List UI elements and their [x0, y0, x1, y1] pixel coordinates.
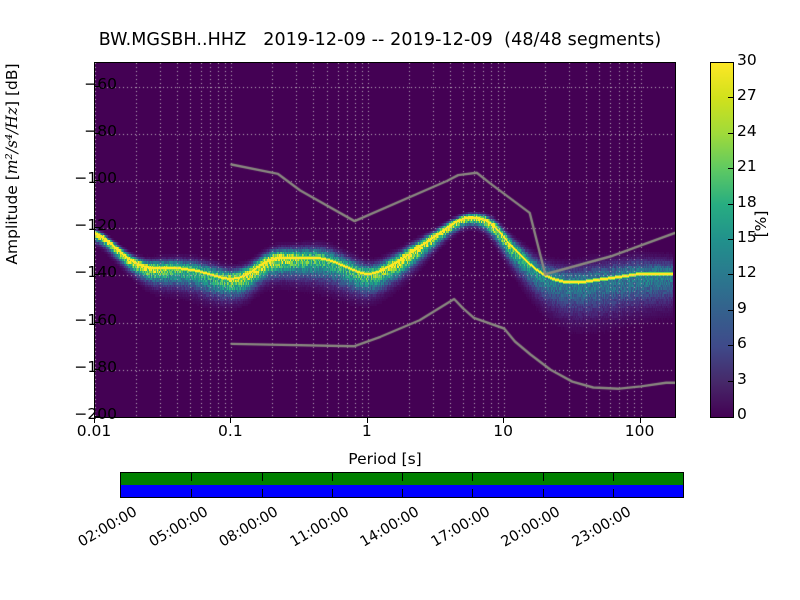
- ppsd-figure: BW.MGSBH..HHZ 2019-12-09 -- 2019-12-09 (…: [0, 0, 800, 600]
- y-tick-label: −140: [0, 263, 117, 281]
- time-tick-label: 02:00:00: [70, 504, 140, 554]
- colorbar-tick-mark: [728, 310, 733, 311]
- time-tick-label: 05:00:00: [140, 504, 210, 554]
- colorbar-tick-label: 6: [737, 334, 797, 352]
- coverage-separator: [402, 489, 403, 497]
- colorbar-tick-mark: [728, 345, 733, 346]
- coverage-separator: [543, 489, 544, 497]
- y-tick-mark: [94, 322, 100, 323]
- colorbar-tick-mark: [728, 239, 733, 240]
- colorbar: [710, 62, 734, 418]
- coverage-separator: [191, 473, 192, 481]
- colorbar-label: [%]: [752, 164, 770, 284]
- time-tick-label: 20:00:00: [493, 504, 563, 554]
- time-tick-label: 14:00:00: [352, 504, 422, 554]
- time-tick-label: 23:00:00: [563, 504, 633, 554]
- colorbar-tick-label: 3: [737, 370, 797, 388]
- colorbar-tick-mark: [728, 204, 733, 205]
- coverage-separator: [332, 473, 333, 481]
- x-tick-mark: [230, 418, 231, 423]
- y-tick-label: −180: [0, 358, 117, 376]
- x-tick-mark: [640, 418, 641, 423]
- ppsd-plot-area[interactable]: [94, 62, 676, 418]
- x-tick-mark: [94, 418, 95, 423]
- time-tick-label: 17:00:00: [422, 504, 492, 554]
- x-tick-label: 0.1: [170, 422, 290, 440]
- y-tick-mark: [94, 133, 100, 134]
- x-tick-mark: [367, 418, 368, 423]
- figure-title: BW.MGSBH..HHZ 2019-12-09 -- 2019-12-09 (…: [0, 30, 760, 50]
- coverage-separator: [332, 489, 333, 497]
- colorbar-tick-label: 30: [737, 51, 797, 69]
- y-tick-label: −60: [0, 75, 117, 93]
- x-tick-label: 1: [307, 422, 427, 440]
- colorbar-tick-mark: [728, 97, 733, 98]
- coverage-separator: [543, 473, 544, 481]
- coverage-separator: [402, 473, 403, 481]
- x-tick-label: 0.01: [34, 422, 154, 440]
- coverage-separator: [472, 473, 473, 481]
- y-tick-label: −120: [0, 216, 117, 234]
- y-tick-label: −100: [0, 169, 117, 187]
- x-tick-label: 100: [580, 422, 700, 440]
- coverage-separator: [613, 473, 614, 481]
- x-tick-mark: [503, 418, 504, 423]
- y-tick-mark: [94, 86, 100, 87]
- y-tick-mark: [94, 274, 100, 275]
- colorbar-tick-label: 27: [737, 86, 797, 104]
- y-tick-mark: [94, 416, 100, 417]
- y-tick-mark: [94, 227, 100, 228]
- colorbar-tick-mark: [728, 274, 733, 275]
- y-tick-label: −160: [0, 311, 117, 329]
- colorbar-tick-mark: [728, 381, 733, 382]
- coverage-separator: [262, 473, 263, 481]
- colorbar-tick-label: 0: [737, 405, 797, 423]
- coverage-separator: [262, 489, 263, 497]
- noise-model-curves: [95, 63, 675, 417]
- x-tick-label: 10: [443, 422, 563, 440]
- y-tick-mark: [94, 369, 100, 370]
- colorbar-tick-label: 9: [737, 299, 797, 317]
- y-tick-label: −80: [0, 122, 117, 140]
- x-axis-label: Period [s]: [94, 450, 676, 468]
- colorbar-tick-label: 24: [737, 122, 797, 140]
- time-tick-label: 08:00:00: [211, 504, 281, 554]
- time-tick-label: 11:00:00: [281, 504, 351, 554]
- time-coverage-bar[interactable]: [120, 472, 684, 498]
- coverage-separator: [191, 489, 192, 497]
- y-tick-label: −200: [0, 405, 117, 423]
- colorbar-tick-mark: [728, 133, 733, 134]
- colorbar-tick-mark: [728, 168, 733, 169]
- coverage-separator: [613, 489, 614, 497]
- coverage-separator: [472, 489, 473, 497]
- y-tick-mark: [94, 180, 100, 181]
